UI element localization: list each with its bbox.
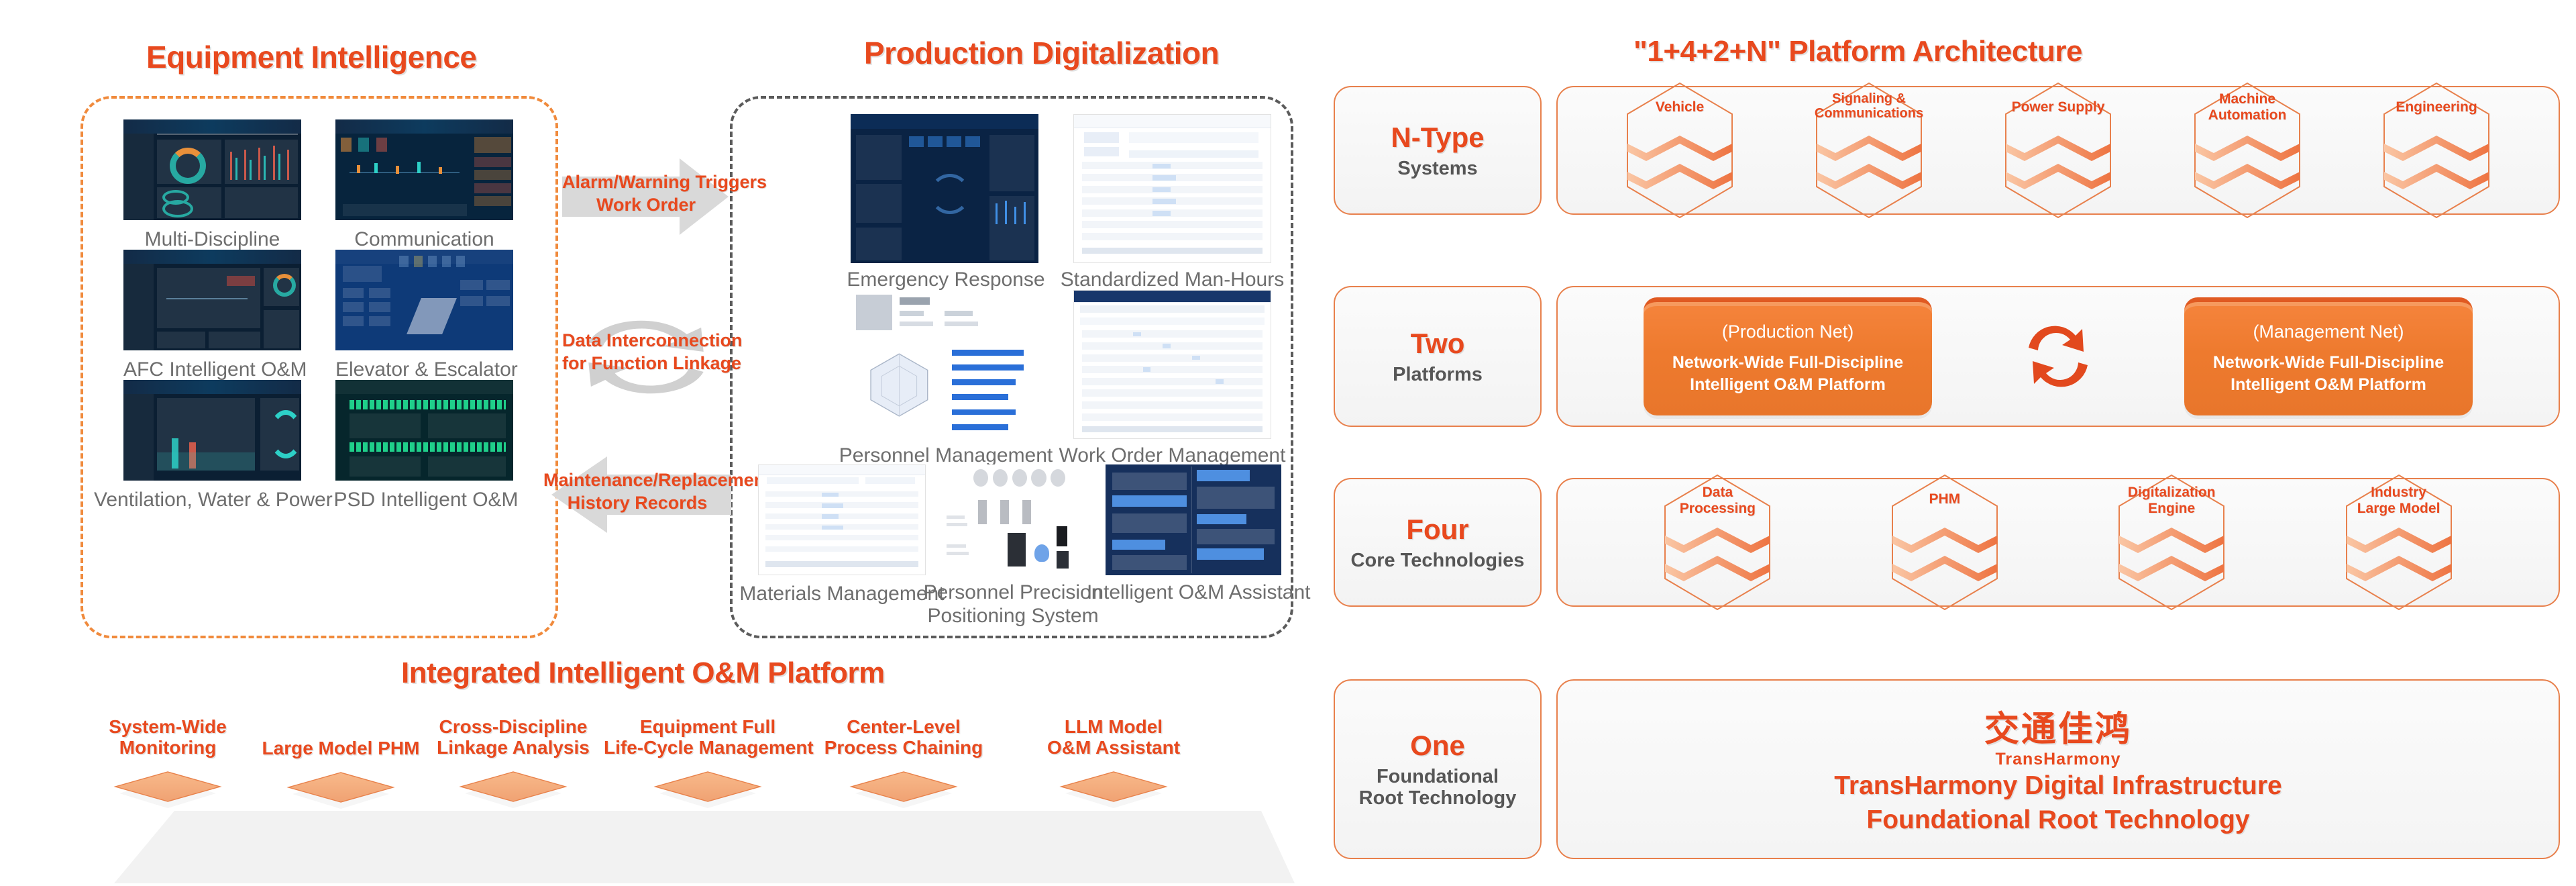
thumbnail-label: Standardized Man-Hours — [1053, 268, 1291, 291]
platform-architecture-title: "1+4+2+N" Platform Architecture — [1633, 35, 2082, 68]
foundation-line1: TransHarmony Digital Infrastructure — [1558, 769, 2559, 803]
brand-name-en: TransHarmony — [1558, 750, 2559, 769]
platform-item-line1: Large Model PHM — [260, 738, 421, 759]
thumbnail-work-order-management[interactable] — [1073, 290, 1271, 439]
thumbnail-emergency-response[interactable] — [851, 114, 1038, 263]
platform-item-line1: Cross-Discipline — [429, 717, 597, 738]
thumbnail-elevator[interactable] — [335, 250, 513, 350]
connector-line1: Data Interconnection — [562, 330, 730, 352]
thumbnail-communication[interactable] — [335, 119, 513, 220]
badge-label: Digitalization Engine — [2104, 485, 2239, 516]
radar-chart-icon — [865, 340, 933, 430]
left-panel: Equipment Intelligence Production Digita… — [0, 0, 1315, 886]
badge-label: Vehicle — [1613, 99, 1747, 115]
platform-item-cross-discipline-linkage[interactable]: Cross-Discipline Linkage Analysis — [429, 717, 597, 814]
connector-arrow-right: Alarm/Warning Triggers Work Order — [562, 153, 730, 240]
platform-plate-icon — [1055, 764, 1173, 814]
connector-line1: Alarm/Warning Triggers — [562, 172, 730, 193]
arch-row-four-core: Four Core Technologies Data Processing — [1334, 478, 2560, 607]
row-content-n-type: Vehicle Signaling & Communications — [1556, 86, 2560, 215]
row-label-one: One Foundational Root Technology — [1334, 679, 1542, 859]
thumbnail-label: Materials Management — [738, 583, 946, 605]
foundation-line2: Foundational Root Technology — [1558, 803, 2559, 838]
thumbnail-afc[interactable] — [123, 250, 301, 350]
connector-line2: Work Order — [562, 195, 730, 216]
card-subtitle: (Production Net) — [1722, 322, 1854, 342]
connector-arrow-left: Maintenance/Replacement History Records — [543, 451, 731, 538]
platform-item-line2: O&M Assistant — [1033, 738, 1194, 758]
brand-name-cn: 交通佳鸿 — [1558, 701, 2559, 751]
badge-phm[interactable]: PHM — [1878, 471, 2012, 613]
row-label-n-type: N-Type Systems — [1334, 86, 1542, 215]
badge-engineering[interactable]: Engineering — [2369, 79, 2504, 222]
thumbnail-label: Elevator & Escalator — [335, 358, 513, 381]
arch-row-n-type: N-Type Systems Vehicle — [1334, 86, 2560, 215]
thumbnail-label: Intelligent O&M Assistant — [1087, 581, 1301, 604]
bidirectional-sync-icon — [2018, 313, 2098, 400]
arch-row-two-platforms: Two Platforms (Production Net) Network-W… — [1334, 286, 2560, 427]
connector-line2: for Function Linkage — [562, 353, 730, 375]
thumbnail-personnel-management[interactable] — [851, 290, 1038, 439]
row-label-big: Two — [1411, 328, 1465, 360]
badge-power-supply[interactable]: Power Supply — [1991, 79, 2125, 222]
platform-item-llm-assistant[interactable]: LLM Model O&M Assistant — [1033, 717, 1194, 814]
platform-item-line1: System-Wide — [94, 717, 241, 738]
badge-machine-automation[interactable]: Machine Automation — [2180, 79, 2314, 222]
badge-label: Engineering — [2369, 99, 2504, 115]
infographic-root: Equipment Intelligence Production Digita… — [0, 0, 2576, 886]
row-label-small: Platforms — [1393, 364, 1483, 385]
card-production-net[interactable]: (Production Net) Network-Wide Full-Disci… — [1644, 297, 1932, 415]
card-management-net[interactable]: (Management Net) Network-Wide Full-Disci… — [2184, 297, 2473, 415]
badge-vehicle[interactable]: Vehicle — [1613, 79, 1747, 222]
platform-item-line2: Monitoring — [94, 738, 241, 758]
row-label-four: Four Core Technologies — [1334, 478, 1542, 607]
thumbnail-label: Personnel Precision Positioning System — [919, 581, 1107, 628]
thumbnail-label: Multi-Discipline — [123, 228, 301, 251]
thumbnail-label: Work Order Management — [1053, 444, 1291, 467]
thumbnail-label: PSD Intelligent O&M — [332, 489, 520, 511]
badge-label: Power Supply — [1991, 99, 2125, 115]
row-label-big: N-Type — [1391, 121, 1484, 154]
platform-item-system-wide-monitoring[interactable]: System-Wide Monitoring — [94, 717, 241, 814]
thumbnail-label: Ventilation, Water & Power — [94, 489, 329, 511]
thumbnail-label: AFC Intelligent O&M — [123, 358, 301, 381]
platform-item-line1: LLM Model — [1033, 717, 1194, 738]
card-main: Network-Wide Full-Discipline Intelligent… — [2213, 352, 2444, 396]
thumbnail-multi-discipline[interactable] — [123, 119, 301, 220]
platform-item-line2: Life-Cycle Management — [604, 738, 812, 758]
platform-plate-icon — [109, 764, 227, 814]
foundation-block: 交通佳鸿 TransHarmony TransHarmony Digital I… — [1558, 701, 2559, 837]
badge-label: Data Processing — [1650, 485, 1784, 516]
row-content-foundation: 交通佳鸿 TransHarmony TransHarmony Digital I… — [1556, 679, 2560, 859]
integrated-platform-title: Integrated Intelligent O&M Platform — [401, 656, 885, 690]
row-label-two-platforms: Two Platforms — [1334, 286, 1542, 427]
badge-label: PHM — [1878, 491, 2012, 507]
card-subtitle: (Management Net) — [2253, 322, 2404, 342]
row-label-big: Four — [1406, 513, 1468, 546]
badge-data-processing[interactable]: Data Processing — [1650, 471, 1784, 613]
connector-line1: Maintenance/Replacement — [543, 470, 731, 491]
platform-item-center-level-chaining[interactable]: Center-Level Process Chaining — [820, 717, 987, 814]
badge-label: Industry Large Model — [2332, 485, 2466, 516]
thumbnail-om-assistant[interactable] — [1106, 464, 1281, 575]
platform-item-large-model-phm[interactable]: Large Model PHM — [260, 738, 421, 814]
thumbnail-label: Communication — [335, 228, 513, 251]
badge-digitalization-engine[interactable]: Digitalization Engine — [2104, 471, 2239, 613]
badge-signaling-communications[interactable]: Signaling & Communications — [1802, 79, 1936, 222]
badge-label: Signaling & Communications — [1802, 91, 1936, 121]
arch-row-foundation: One Foundational Root Technology 交通佳鸿 Tr… — [1334, 679, 2560, 859]
thumbnail-standardized-man-hours[interactable] — [1073, 114, 1271, 263]
platform-plate-icon — [282, 765, 400, 814]
row-label-small: Systems — [1397, 158, 1477, 179]
row-content-four-core: Data Processing PHM — [1556, 478, 2560, 607]
platform-plate-icon — [454, 764, 572, 814]
row-label-small: Foundational Root Technology — [1359, 766, 1517, 809]
row-label-big: One — [1410, 730, 1465, 762]
row-label-small: Core Technologies — [1351, 550, 1525, 571]
connector-arrow-cycle: Data Interconnection for Function Linkag… — [562, 310, 730, 404]
platform-item-line1: Center-Level — [820, 717, 987, 738]
thumbnail-psd[interactable] — [335, 380, 513, 481]
connector-line2: History Records — [543, 493, 731, 514]
platform-item-equipment-lifecycle[interactable]: Equipment Full Life-Cycle Management — [604, 717, 812, 814]
platform-plate-icon — [649, 764, 767, 814]
row-content-two-platforms: (Production Net) Network-Wide Full-Disci… — [1556, 286, 2560, 427]
thumbnail-personnel-positioning[interactable] — [941, 464, 1089, 575]
card-main: Network-Wide Full-Discipline Intelligent… — [1672, 352, 1903, 396]
thumbnail-label: Emergency Response — [832, 268, 1060, 291]
platform-item-line1: Equipment Full — [604, 717, 812, 738]
platform-item-line2: Linkage Analysis — [429, 738, 597, 758]
equipment-intelligence-title: Equipment Intelligence — [146, 39, 477, 75]
platform-item-line2: Process Chaining — [820, 738, 987, 758]
thumbnail-label: Personnel Management — [832, 444, 1060, 467]
badge-label: Machine Automation — [2180, 91, 2314, 123]
badge-industry-large-model[interactable]: Industry Large Model — [2332, 471, 2466, 613]
right-panel: "1+4+2+N" Platform Architecture N-Type S… — [1322, 0, 2576, 886]
platform-plate-icon — [845, 764, 963, 814]
thumbnail-materials-management[interactable] — [758, 464, 926, 575]
thumbnail-ventilation[interactable] — [123, 380, 301, 481]
production-digitalization-title: Production Digitalization — [864, 35, 1219, 71]
